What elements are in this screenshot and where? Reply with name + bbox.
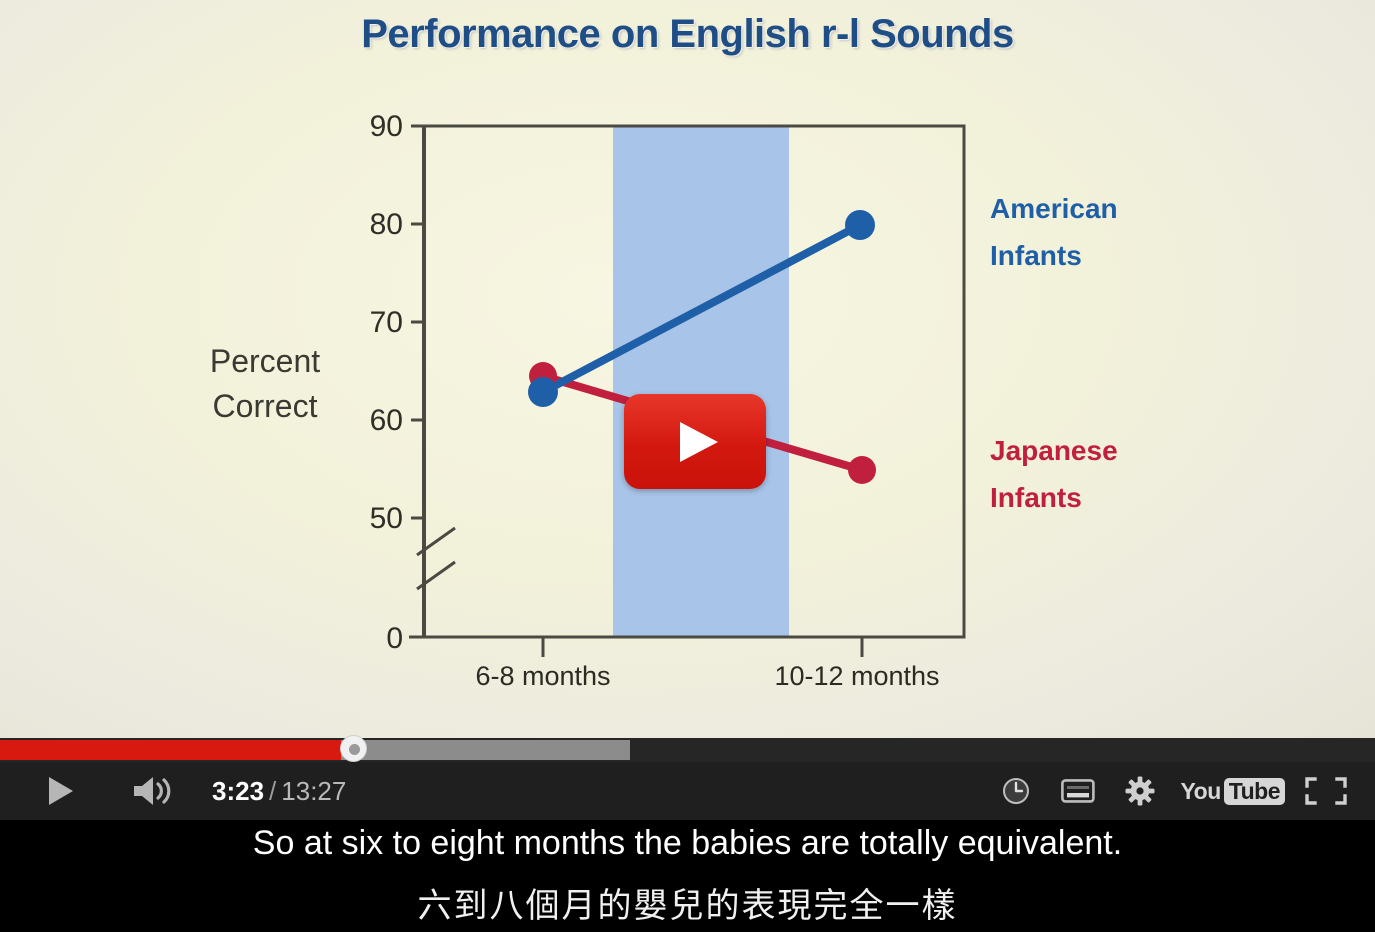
play-icon [49, 777, 73, 805]
total-time: 13:27 [281, 776, 346, 806]
legend-japanese-line2: Infants [990, 482, 1082, 513]
current-time: 3:23 [212, 776, 264, 806]
y-axis-label-line2: Correct [213, 388, 318, 424]
youtube-logo[interactable]: You Tube [1181, 778, 1285, 805]
chart-figure: 90 80 70 60 50 0 Percent Correct 6-8 mon… [0, 0, 1375, 738]
data-point-american-6-8 [528, 377, 558, 407]
y-tick-label-50: 50 [370, 502, 403, 535]
clock-icon [1002, 777, 1030, 805]
data-point-american-10-12 [845, 210, 875, 240]
y-tick-label-80: 80 [370, 208, 403, 241]
player-control-bar: 3:23/13:27 [0, 762, 1375, 820]
captions-icon [1061, 778, 1095, 804]
watch-later-button[interactable] [985, 762, 1047, 820]
right-controls-group: You Tube [985, 762, 1375, 820]
legend-japanese-line1: Japanese [990, 435, 1118, 466]
x-tick-label-2: 10-12 months [774, 661, 939, 691]
y-tick-label-90: 90 [370, 110, 403, 143]
fullscreen-icon [1304, 776, 1348, 806]
progress-scrubber-handle[interactable] [340, 735, 367, 762]
youtube-video-player: Performance on English r-l Sounds [0, 0, 1375, 932]
legend-american-line1: American [990, 193, 1118, 224]
fullscreen-button[interactable] [1295, 762, 1357, 820]
gear-icon [1125, 776, 1155, 806]
progress-bar[interactable] [0, 738, 1375, 762]
y-tick-label-70: 70 [370, 306, 403, 339]
time-display: 3:23/13:27 [212, 776, 346, 807]
y-axis-label-line1: Percent [210, 343, 320, 379]
subtitle-english: So at six to eight months the babies are… [0, 824, 1375, 863]
subtitle-area: So at six to eight months the babies are… [0, 820, 1375, 932]
play-triangle-icon [680, 422, 718, 462]
progress-played [0, 740, 341, 760]
x-tick-label-1: 6-8 months [475, 661, 610, 691]
captions-button[interactable] [1047, 762, 1109, 820]
legend-american-line2: Infants [990, 240, 1082, 271]
y-tick-label-0: 0 [386, 622, 403, 655]
youtube-logo-you: You [1181, 778, 1221, 805]
y-tick-label-60: 60 [370, 404, 403, 437]
volume-icon [132, 774, 176, 808]
highlight-band [613, 126, 789, 637]
subtitle-chinese: 六到八個月的嬰兒的表現完全一樣 [0, 878, 1375, 927]
settings-button[interactable] [1109, 762, 1171, 820]
video-viewport[interactable]: Performance on English r-l Sounds [0, 0, 1375, 738]
data-point-japanese-10-12 [848, 456, 876, 484]
youtube-logo-tube: Tube [1224, 778, 1285, 805]
time-separator: / [264, 776, 281, 806]
play-button[interactable] [30, 762, 92, 820]
volume-button[interactable] [122, 762, 186, 820]
line-chart-svg: 90 80 70 60 50 0 Percent Correct 6-8 mon… [0, 0, 1375, 738]
big-play-button[interactable] [624, 394, 766, 489]
